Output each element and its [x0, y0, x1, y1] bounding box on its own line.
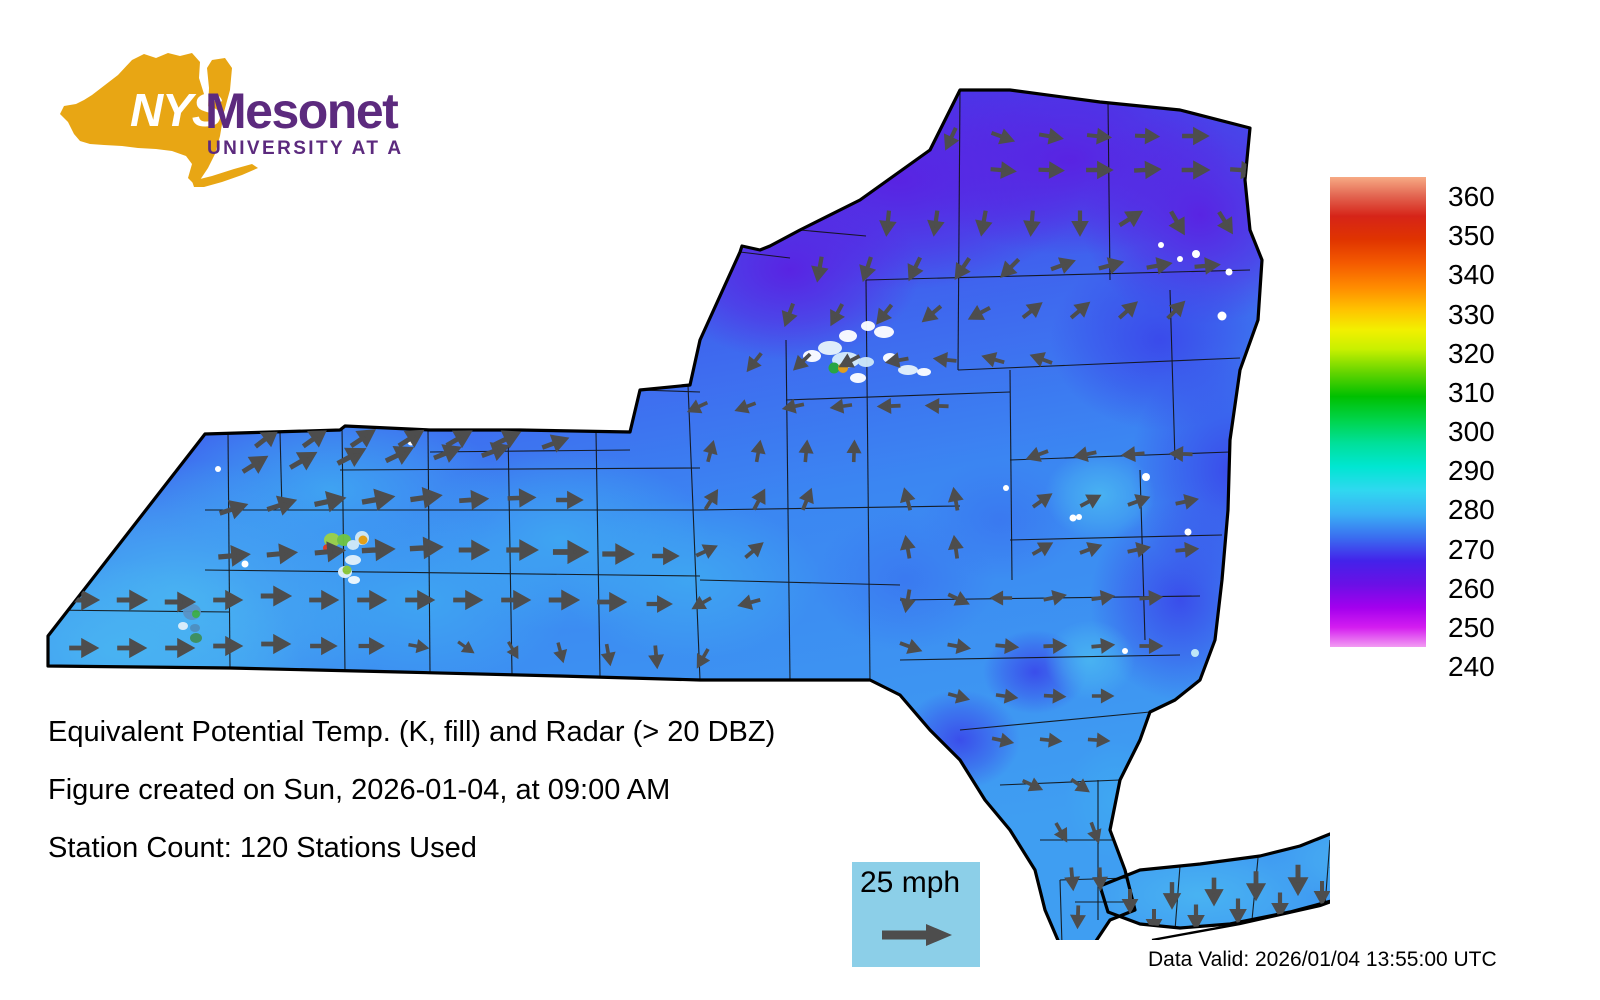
colorbar-tick-labels: 360350340330320310300290280270260250240: [1448, 177, 1558, 647]
colorbar-tick-310: 310: [1448, 379, 1495, 407]
colorbar-tick-340: 340: [1448, 261, 1495, 289]
arrow-right-icon: [880, 920, 956, 950]
weather-map-page: NYS Mesonet UNIVERSITY AT ALBANY: [0, 0, 1600, 1000]
colorbar-tick-280: 280: [1448, 496, 1495, 524]
wind-legend-label: 25 mph: [860, 866, 960, 900]
colorbar-tick-260: 260: [1448, 575, 1495, 603]
colorbar-tick-300: 300: [1448, 418, 1495, 446]
colorbar-tick-350: 350: [1448, 222, 1495, 250]
colorbar-tick-270: 270: [1448, 536, 1495, 564]
colorbar-tick-320: 320: [1448, 340, 1495, 368]
colorbar-tick-290: 290: [1448, 457, 1495, 485]
radar-dot: [1191, 649, 1199, 657]
colorbar-tick-360: 360: [1448, 183, 1495, 211]
colorbar-tick-330: 330: [1448, 301, 1495, 329]
colorbar-tick-250: 250: [1448, 614, 1495, 642]
figure-created-line: Figure created on Sun, 2026-01-04, at 09…: [48, 776, 948, 805]
map-title: Equivalent Potential Temp. (K, fill) and…: [48, 718, 948, 747]
data-valid-timestamp: Data Valid: 2026/01/04 13:55:00 UTC: [1148, 948, 1497, 972]
wind-speed-legend: 25 mph: [852, 862, 980, 967]
station-count-line: Station Count: 120 Stations Used: [48, 834, 948, 863]
thetae-colorbar: [1330, 177, 1426, 647]
caption-block: Equivalent Potential Temp. (K, fill) and…: [48, 718, 948, 892]
colorbar-tick-240: 240: [1448, 653, 1495, 681]
